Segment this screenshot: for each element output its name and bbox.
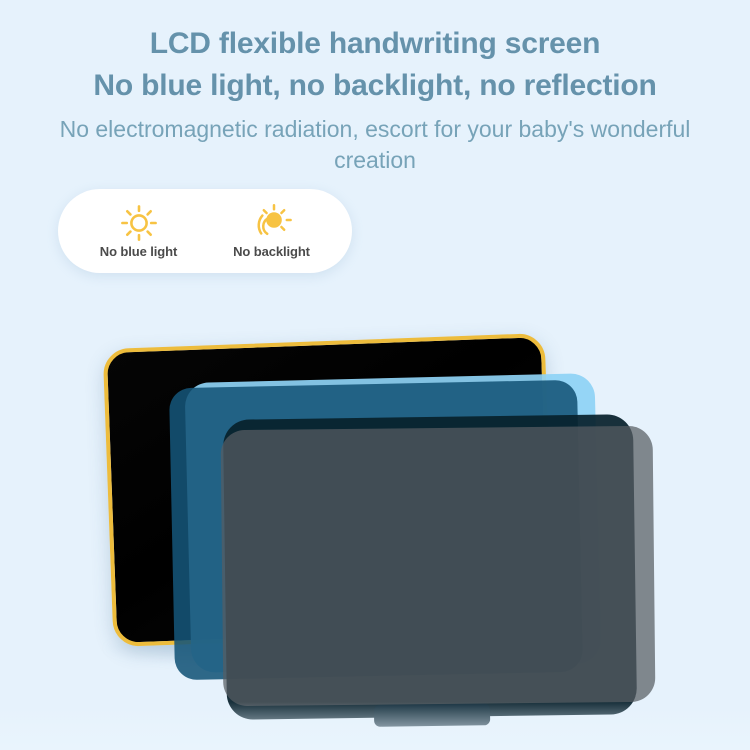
feature-badge-pill: No blue light xyxy=(58,189,352,273)
sun-outline-icon xyxy=(117,203,161,243)
product-feature-banner: LCD flexible handwriting screen No blue … xyxy=(0,0,750,750)
sun-filled-rays-icon xyxy=(250,203,294,243)
feature-label-no-backlight: No backlight xyxy=(233,244,310,259)
headline-secondary: No blue light, no backlight, no reflecti… xyxy=(0,66,750,105)
subheadline-text: No electromagnetic radiation, escort for… xyxy=(0,114,750,176)
feature-item-no-backlight: No backlight xyxy=(206,203,338,259)
feature-label-no-blue-light: No blue light xyxy=(100,244,177,259)
device-layer-grey-sheet xyxy=(221,426,656,707)
device-illustration xyxy=(0,300,750,750)
bottom-fade-strip xyxy=(0,702,750,750)
headline-primary: LCD flexible handwriting screen xyxy=(0,24,750,63)
feature-item-no-blue-light: No blue light xyxy=(73,203,205,259)
header-text-block: LCD flexible handwriting screen No blue … xyxy=(0,0,750,176)
